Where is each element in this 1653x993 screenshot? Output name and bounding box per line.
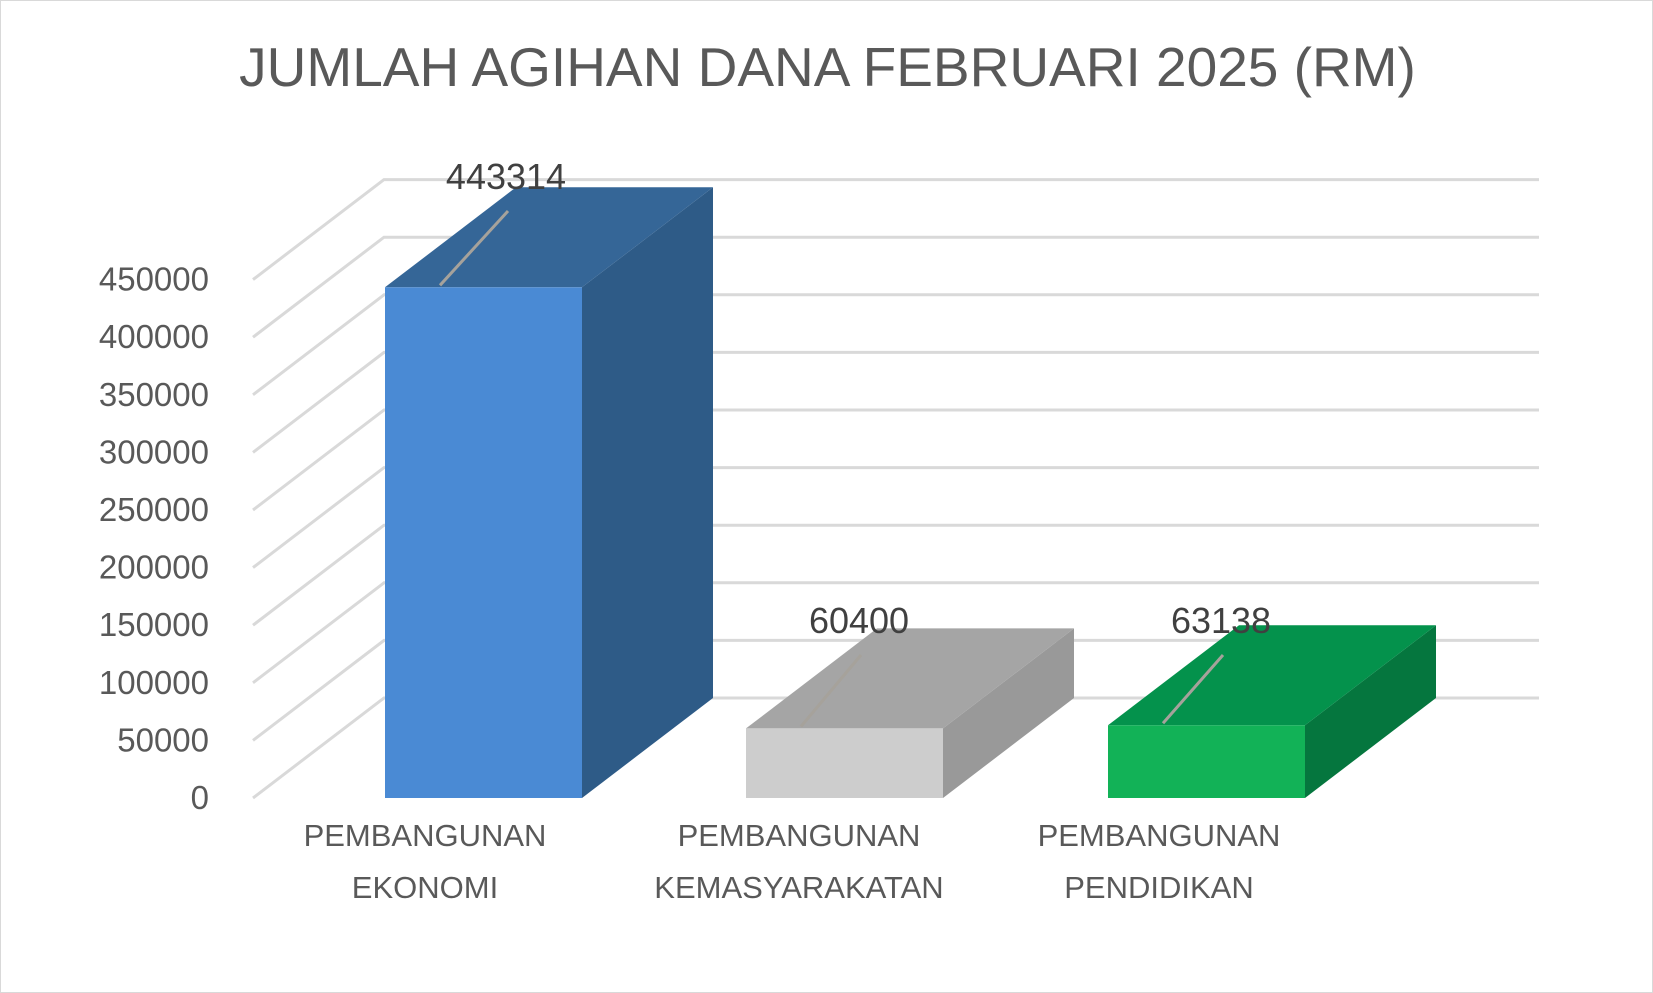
y-axis-tick-label: 250000 bbox=[99, 491, 209, 528]
category-label-line: PEMBANGUNAN bbox=[304, 818, 547, 853]
y-axis-tick-label: 150000 bbox=[99, 606, 209, 643]
y-axis-tick-label: 100000 bbox=[99, 664, 209, 701]
category-label-line: EKONOMI bbox=[352, 870, 498, 905]
bar-value-label: 60400 bbox=[809, 600, 909, 641]
y-axis-tick-label: 50000 bbox=[117, 721, 209, 758]
bar-value-label: 63138 bbox=[1171, 600, 1271, 641]
chart-plot-area: 4500004000003500003000002500002000001500… bbox=[1, 1, 1653, 993]
category-labels: PEMBANGUNANEKONOMIPEMBANGUNANKEMASYARAKA… bbox=[304, 818, 1281, 905]
category-label-line: PEMBANGUNAN bbox=[678, 818, 921, 853]
bar-front-face[interactable] bbox=[746, 728, 943, 798]
category-label-line: KEMASYARAKATAN bbox=[654, 870, 943, 905]
y-axis-tick-label: 350000 bbox=[99, 376, 209, 413]
bar-front-face[interactable] bbox=[1108, 725, 1305, 798]
y-axis-labels: 4500004000003500003000002500002000001500… bbox=[99, 261, 209, 816]
y-axis-tick-label: 0 bbox=[191, 779, 209, 816]
bar-side-face bbox=[582, 187, 713, 798]
chart-container: JUMLAH AGIHAN DANA FEBRUARI 2025 (RM) 45… bbox=[0, 0, 1653, 993]
y-axis-tick-label: 400000 bbox=[99, 318, 209, 355]
bars bbox=[385, 187, 1436, 798]
y-axis-tick-label: 450000 bbox=[99, 261, 209, 298]
category-label-line: PEMBANGUNAN bbox=[1038, 818, 1281, 853]
category-label-line: PENDIDIKAN bbox=[1064, 870, 1253, 905]
y-axis-tick-label: 300000 bbox=[99, 433, 209, 470]
y-axis-tick-label: 200000 bbox=[99, 549, 209, 586]
bar-front-face[interactable] bbox=[385, 287, 582, 798]
bar-value-label: 443314 bbox=[446, 156, 566, 197]
